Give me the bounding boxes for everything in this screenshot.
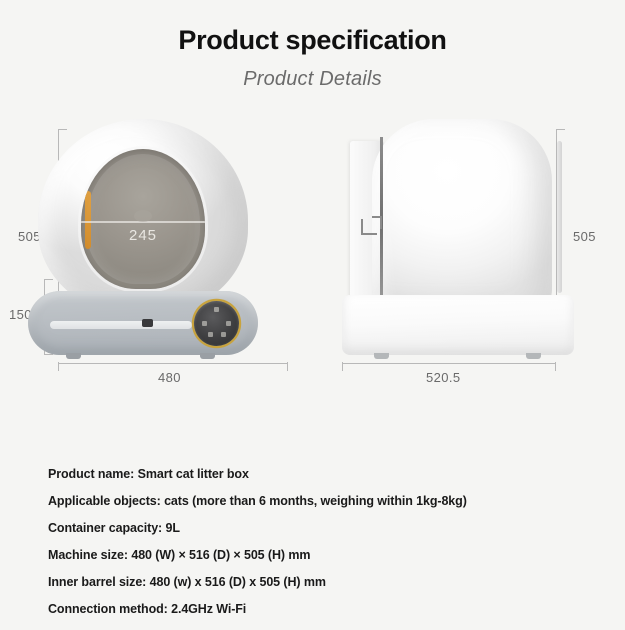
panel-power-icon xyxy=(214,307,219,312)
front-view-group: 505 150 480 245 xyxy=(0,107,320,397)
entry-opening: 245 xyxy=(81,149,205,289)
opening-dimension-label: 245 xyxy=(81,227,205,244)
front-foot-left xyxy=(66,353,81,359)
side-foot-left xyxy=(374,353,389,359)
panel-mode-icon xyxy=(208,332,213,337)
spec-machine-size: Machine size: 480 (W) × 516 (D) × 505 (H… xyxy=(48,549,588,562)
side-view-illustration xyxy=(342,119,574,369)
specification-list: Product name: Smart cat litter box Appli… xyxy=(48,468,588,630)
control-panel xyxy=(194,301,239,346)
panel-right-icon xyxy=(226,321,231,326)
side-shell xyxy=(372,119,552,319)
front-view-illustration: 245 xyxy=(28,119,258,369)
side-height-dim-label: 505 xyxy=(573,229,596,244)
base-slot xyxy=(50,321,192,329)
side-rail xyxy=(557,141,562,293)
spec-inner-barrel-size: Inner barrel size: 480 (w) x 516 (D) x 5… xyxy=(48,576,588,589)
spec-applicable-objects: Applicable objects: cats (more than 6 mo… xyxy=(48,495,588,508)
sensor-icon xyxy=(142,319,153,327)
spec-connection-method: Connection method: 2.4GHz Wi-Fi xyxy=(48,603,588,616)
spec-container-capacity: Container capacity: 9L xyxy=(48,522,588,535)
side-view-group: 505 520.5 xyxy=(320,107,625,397)
side-base-unit xyxy=(342,295,574,355)
page-header: Product specification Product Details xyxy=(0,0,625,91)
side-depth-dim-label: 520.5 xyxy=(426,370,461,385)
page-subtitle: Product Details xyxy=(0,68,625,91)
panel-clean-icon xyxy=(221,332,226,337)
side-foot-right xyxy=(526,353,541,359)
page-title: Product specification xyxy=(0,26,625,56)
base-unit xyxy=(28,291,258,355)
rear-handle-icon-upper xyxy=(372,216,382,229)
product-diagram-area: 505 150 480 245 xyxy=(0,107,625,397)
spec-product-name: Product name: Smart cat litter box xyxy=(48,468,588,481)
panel-left-icon xyxy=(202,321,207,326)
front-foot-right xyxy=(200,353,215,359)
front-width-dim-label: 480 xyxy=(158,370,181,385)
